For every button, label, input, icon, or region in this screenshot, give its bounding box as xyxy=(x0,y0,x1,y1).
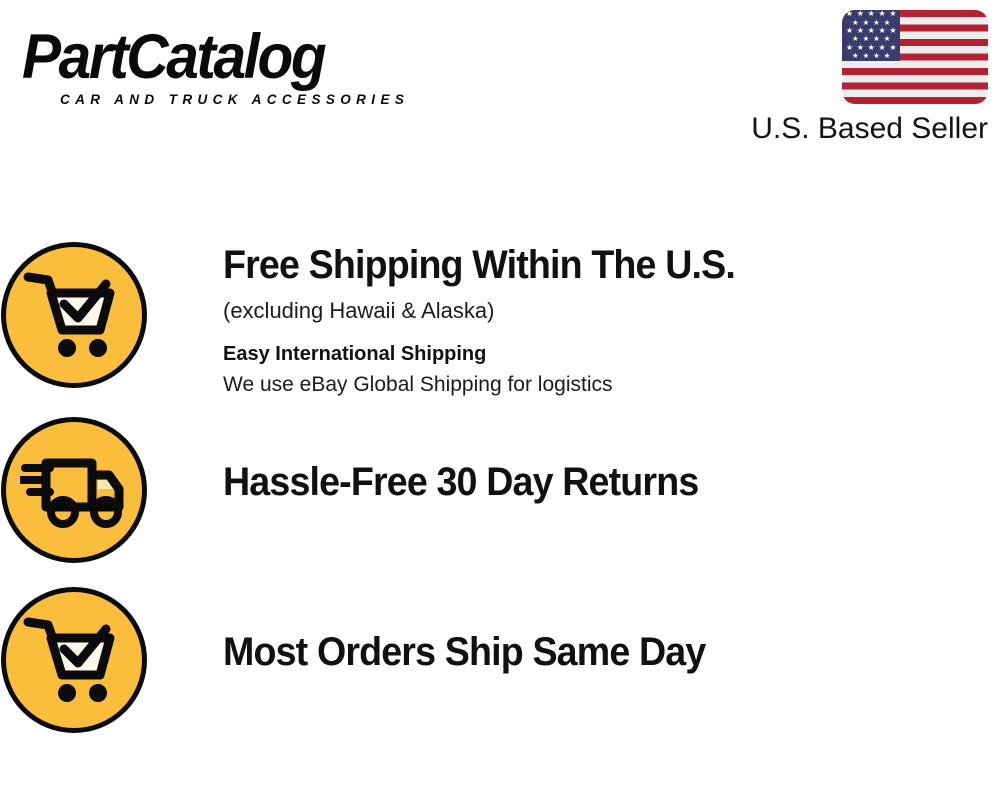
feature-title: Free Shipping Within The U.S. xyxy=(223,242,735,288)
shopping-cart-check-icon xyxy=(1,242,147,388)
delivery-truck-icon xyxy=(1,417,147,563)
us-flag-icon: ★ ★ ★ ★ ★ ★ ★ ★ ★ ★ ★ ★ ★ ★ xyxy=(842,10,988,104)
star-icon: ★ xyxy=(857,10,864,18)
feature-icon-badge xyxy=(0,585,148,733)
feature-row: Most Orders Ship Same Day xyxy=(0,585,1000,733)
feature-icon-badge xyxy=(0,240,148,388)
feature-text-block: Free Shipping Within The U.S. (excluding… xyxy=(148,240,768,399)
us-based-seller-badge: ★ ★ ★ ★ ★ ★ ★ ★ ★ ★ ★ ★ ★ ★ xyxy=(718,10,988,147)
star-icon: ★ xyxy=(889,27,896,35)
feature-text-block: Hassle-Free 30 Day Returns xyxy=(148,415,729,505)
feature-row: Hassle-Free 30 Day Returns xyxy=(0,415,1000,563)
feature-title: Hassle-Free 30 Day Returns xyxy=(223,459,698,505)
brand-wordmark: PartCatalog xyxy=(22,24,459,90)
feature-secondary-text: We use eBay Global Shipping for logistic… xyxy=(223,370,768,399)
star-icon: ★ xyxy=(889,10,896,18)
feature-title: Most Orders Ship Same Day xyxy=(223,629,705,675)
feature-text-block: Most Orders Ship Same Day xyxy=(148,585,736,675)
star-icon: ★ xyxy=(878,10,885,18)
star-icon: ★ xyxy=(846,10,853,18)
page-header: PartCatalog CAR AND TRUCK ACCESSORIES ★ … xyxy=(0,0,1000,170)
flag-canton: ★ ★ ★ ★ ★ ★ ★ ★ ★ ★ ★ ★ ★ ★ xyxy=(842,10,900,61)
brand-tagline: CAR AND TRUCK ACCESSORIES xyxy=(60,92,492,107)
star-icon: ★ xyxy=(889,44,896,52)
flag-star-row: ★ ★ ★ ★ ★ xyxy=(842,44,900,52)
star-icon: ★ xyxy=(873,52,880,60)
brand-logo[interactable]: PartCatalog CAR AND TRUCK ACCESSORIES xyxy=(22,24,492,119)
flag-star-row: ★ ★ ★ ★ ★ xyxy=(842,10,900,18)
star-icon: ★ xyxy=(868,10,875,18)
feature-secondary-heading: Easy International Shipping xyxy=(223,340,768,368)
us-based-seller-label: U.S. Based Seller xyxy=(718,111,988,147)
flag-star-row: ★ ★ ★ ★ xyxy=(842,52,900,60)
shopping-cart-check-icon xyxy=(1,587,147,733)
feature-row: Free Shipping Within The U.S. (excluding… xyxy=(0,240,1000,399)
flag-star-row: ★ ★ ★ ★ ★ xyxy=(842,27,900,35)
feature-subtitle: (excluding Hawaii & Alaska) xyxy=(223,296,768,326)
star-icon: ★ xyxy=(863,52,870,60)
star-icon: ★ xyxy=(852,52,859,60)
star-icon: ★ xyxy=(884,52,891,60)
feature-icon-badge xyxy=(0,415,148,563)
